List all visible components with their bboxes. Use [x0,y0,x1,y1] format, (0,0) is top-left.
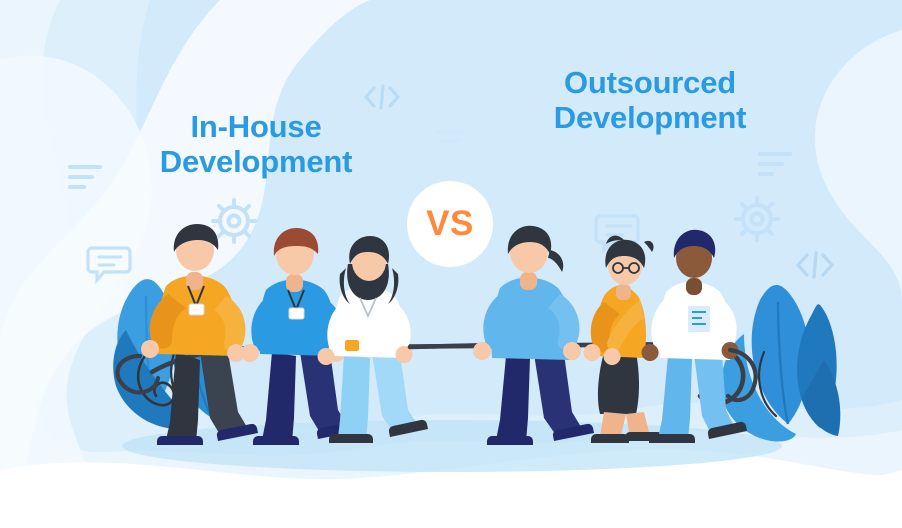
title-in-house: In-House Development [96,110,416,179]
vs-badge: VS [407,181,493,267]
character-outsourced-2 [584,236,663,443]
vs-label: VS [426,204,474,244]
shirt-graphic-icon [688,306,710,332]
illustration-scene: In-House Development Outsourced Developm… [0,0,902,528]
title-outsourced: Outsourced Development [500,66,800,135]
character-outsourced-1 [473,226,594,445]
